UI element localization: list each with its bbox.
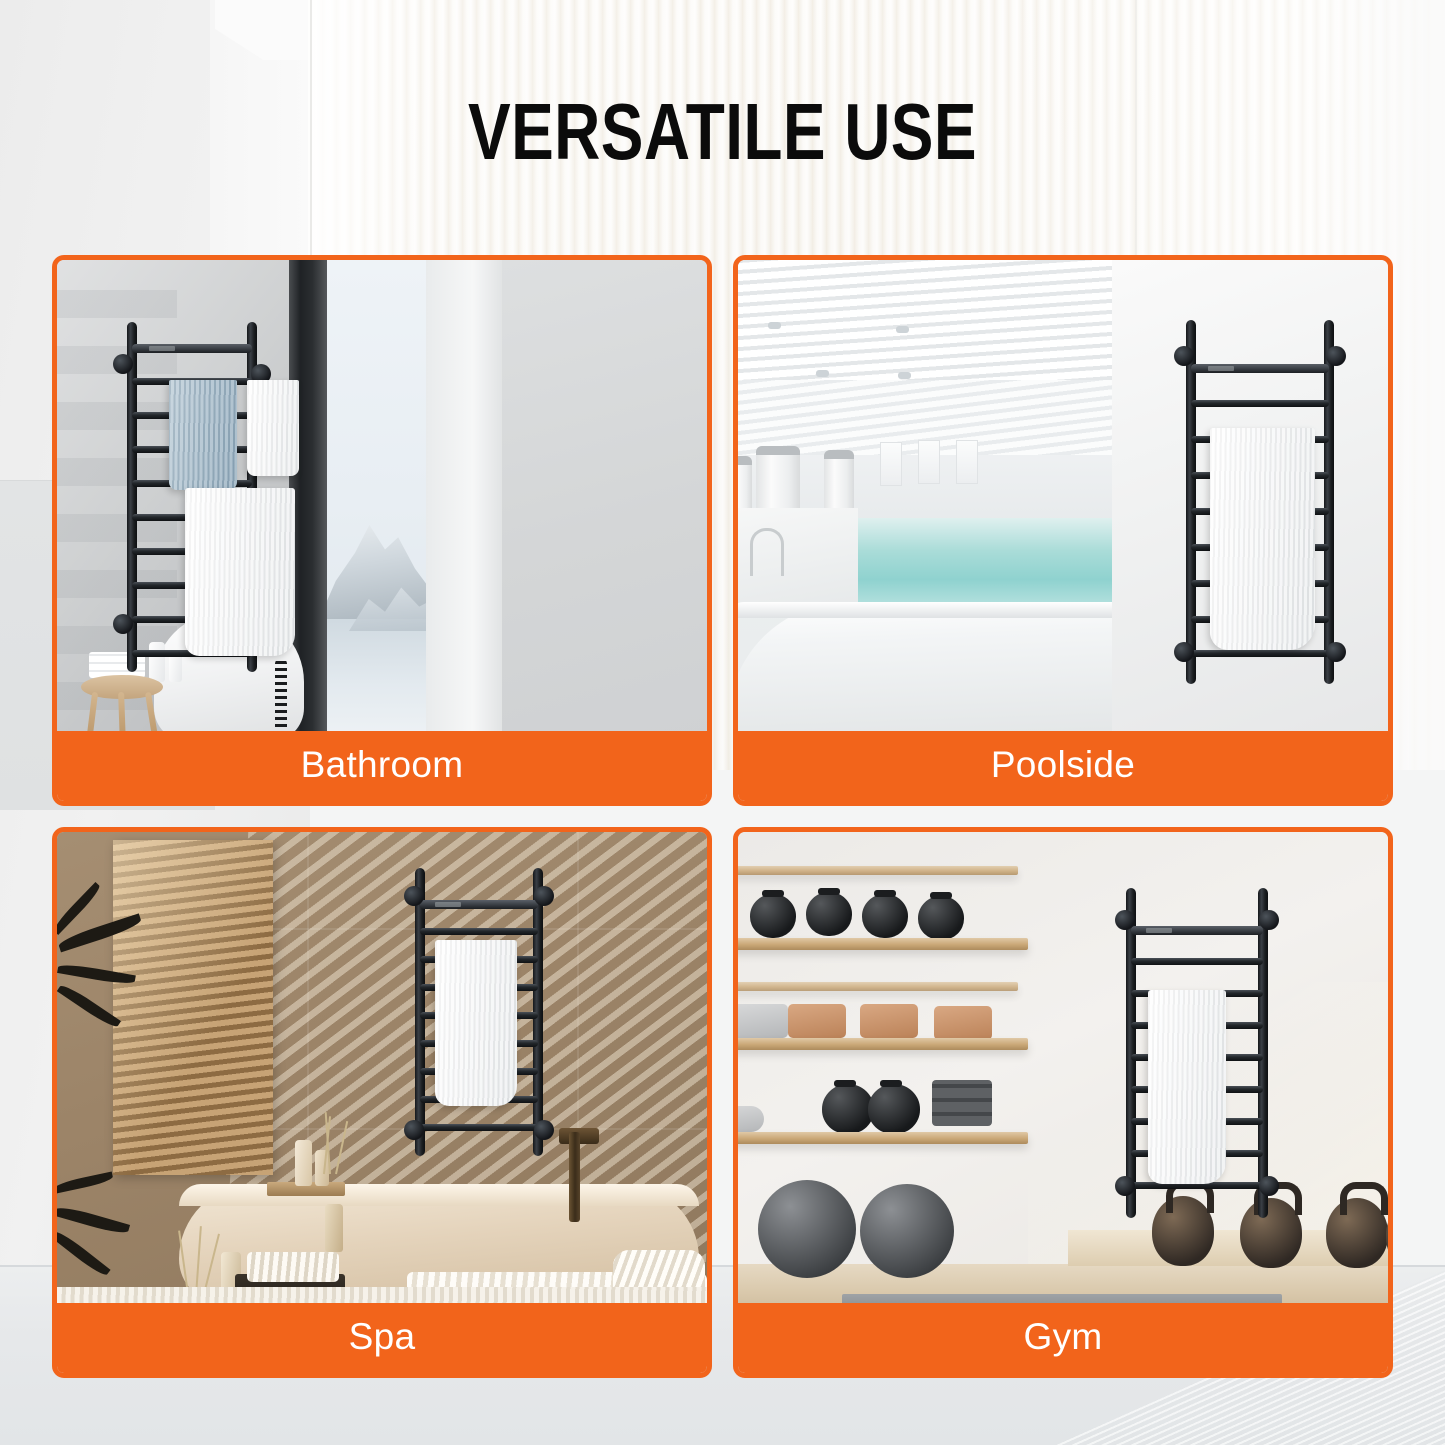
warmer-bracket-bottom-left bbox=[113, 614, 133, 634]
warmer-post-left bbox=[1186, 320, 1196, 684]
spa-faucet bbox=[569, 1132, 580, 1222]
bathroom-window bbox=[325, 260, 426, 741]
spa-diffuser-bottle bbox=[325, 1204, 343, 1252]
use-case-card-gym[interactable]: Gym bbox=[733, 827, 1393, 1378]
poolside-scene bbox=[738, 260, 1388, 741]
warmer-bracket-top-left bbox=[1115, 910, 1135, 930]
spa-label: Spa bbox=[349, 1318, 416, 1358]
spa-label-bar: Spa bbox=[57, 1303, 707, 1373]
bathroom-towel-white-small bbox=[247, 380, 299, 476]
warmer-bracket-top-right bbox=[534, 886, 554, 906]
spa-rolled-towel bbox=[247, 1252, 339, 1282]
bathroom-scene bbox=[57, 260, 707, 741]
gym-pad-1 bbox=[788, 1004, 846, 1038]
poolside-ceiling-light-2 bbox=[896, 326, 909, 333]
poolside-pool-area bbox=[738, 260, 1112, 741]
warmer-rung-9 bbox=[420, 1124, 538, 1131]
spa-towel-white bbox=[435, 940, 517, 1106]
poolside-wall-art-2 bbox=[918, 440, 940, 484]
poolside-label-bar: Poolside bbox=[738, 731, 1388, 801]
bathroom-far-wall bbox=[502, 260, 707, 741]
gym-medicine-ball-5 bbox=[822, 1084, 874, 1134]
poolside-pool-ladder bbox=[750, 528, 784, 576]
warmer-bracket-top-left bbox=[113, 354, 133, 374]
warmer-bracket-bottom-right bbox=[1326, 642, 1346, 662]
gym-pad-gray bbox=[738, 1004, 788, 1038]
warmer-bracket-top-right bbox=[1259, 910, 1279, 930]
warmer-bracket-top-left bbox=[404, 886, 424, 906]
gym-medicine-ball-6 bbox=[868, 1084, 920, 1134]
poolside-ceiling-light-1 bbox=[768, 322, 781, 329]
gym-exercise-ball-1 bbox=[758, 1180, 856, 1278]
warmer-logo bbox=[149, 346, 175, 351]
warmer-bracket-top-left bbox=[1174, 346, 1194, 366]
warmer-logo bbox=[435, 902, 461, 907]
bathroom-towel-white-large bbox=[185, 488, 295, 656]
bathroom-label: Bathroom bbox=[301, 746, 464, 786]
warmer-bracket-bottom-right bbox=[534, 1120, 554, 1140]
gym-rolled-mat bbox=[738, 1106, 764, 1132]
gym-pad-2 bbox=[860, 1004, 918, 1038]
gym-towel-white bbox=[1148, 990, 1226, 1184]
warmer-bracket-bottom-left bbox=[1174, 642, 1194, 662]
gym-shelf-top bbox=[738, 866, 1018, 875]
spa-bathtub-rim bbox=[179, 1184, 699, 1206]
gym-shelf-3 bbox=[738, 1132, 1028, 1144]
gym-medicine-ball-4 bbox=[918, 896, 964, 940]
poolside-wall-art-1 bbox=[880, 442, 902, 486]
use-case-grid: Bathroom bbox=[52, 255, 1393, 1393]
use-case-card-poolside[interactable]: Poolside bbox=[733, 255, 1393, 806]
gym-medicine-ball-1 bbox=[750, 894, 796, 938]
spa-blinds-highlight bbox=[113, 840, 273, 1175]
warmer-post-left bbox=[1126, 888, 1136, 1218]
gym-shelf-1 bbox=[738, 938, 1028, 950]
warmer-bracket-bottom-left bbox=[404, 1120, 424, 1140]
warmer-rung-9 bbox=[1191, 650, 1329, 657]
gym-label: Gym bbox=[1023, 1318, 1102, 1358]
gym-shelf-2 bbox=[738, 1038, 1028, 1050]
page-title: VERSATILE USE bbox=[145, 92, 1301, 172]
gym-medicine-ball-3 bbox=[862, 894, 908, 938]
warmer-bracket-top-right bbox=[1326, 346, 1346, 366]
warmer-bracket-bottom-left bbox=[1115, 1176, 1135, 1196]
gym-shelf-2-top bbox=[738, 982, 1018, 991]
warmer-post-right bbox=[1324, 320, 1334, 684]
window-lake bbox=[325, 617, 426, 741]
warmer-post-right bbox=[1258, 888, 1268, 1218]
warmer-rung-2 bbox=[420, 928, 538, 935]
poolside-ceiling-light-4 bbox=[898, 372, 911, 379]
poolside-ceiling-light-3 bbox=[816, 370, 829, 377]
poolside-jacuzzi bbox=[738, 602, 1112, 741]
warmer-rung-2 bbox=[1131, 958, 1263, 965]
use-case-card-bathroom[interactable]: Bathroom bbox=[52, 255, 712, 806]
warmer-rung-2 bbox=[1191, 400, 1329, 407]
bathroom-label-bar: Bathroom bbox=[57, 731, 707, 801]
use-case-card-spa[interactable]: Spa bbox=[52, 827, 712, 1378]
gym-exercise-ball-2 bbox=[860, 1184, 954, 1278]
spa-soap-bottle bbox=[295, 1140, 312, 1186]
poolside-towel-white bbox=[1210, 428, 1315, 650]
gym-medicine-ball-2 bbox=[806, 892, 852, 936]
gym-pad-3 bbox=[934, 1006, 992, 1040]
bathroom-power-cord bbox=[275, 658, 287, 741]
poolside-wall-art-3 bbox=[956, 440, 978, 484]
poolside-label: Poolside bbox=[991, 746, 1135, 786]
gym-scene bbox=[738, 832, 1388, 1313]
bathroom-towel-blue bbox=[169, 380, 237, 490]
warmer-bracket-bottom-right bbox=[1259, 1176, 1279, 1196]
warmer-logo bbox=[1208, 366, 1234, 371]
gym-label-bar: Gym bbox=[738, 1303, 1388, 1373]
warmer-logo bbox=[1146, 928, 1172, 933]
gym-kettlebell-3 bbox=[1326, 1198, 1388, 1268]
spa-scene bbox=[57, 832, 707, 1313]
poolside-jacuzzi-rim bbox=[738, 602, 1112, 618]
bathroom-column bbox=[426, 260, 504, 741]
gym-folded-towels bbox=[932, 1080, 992, 1126]
